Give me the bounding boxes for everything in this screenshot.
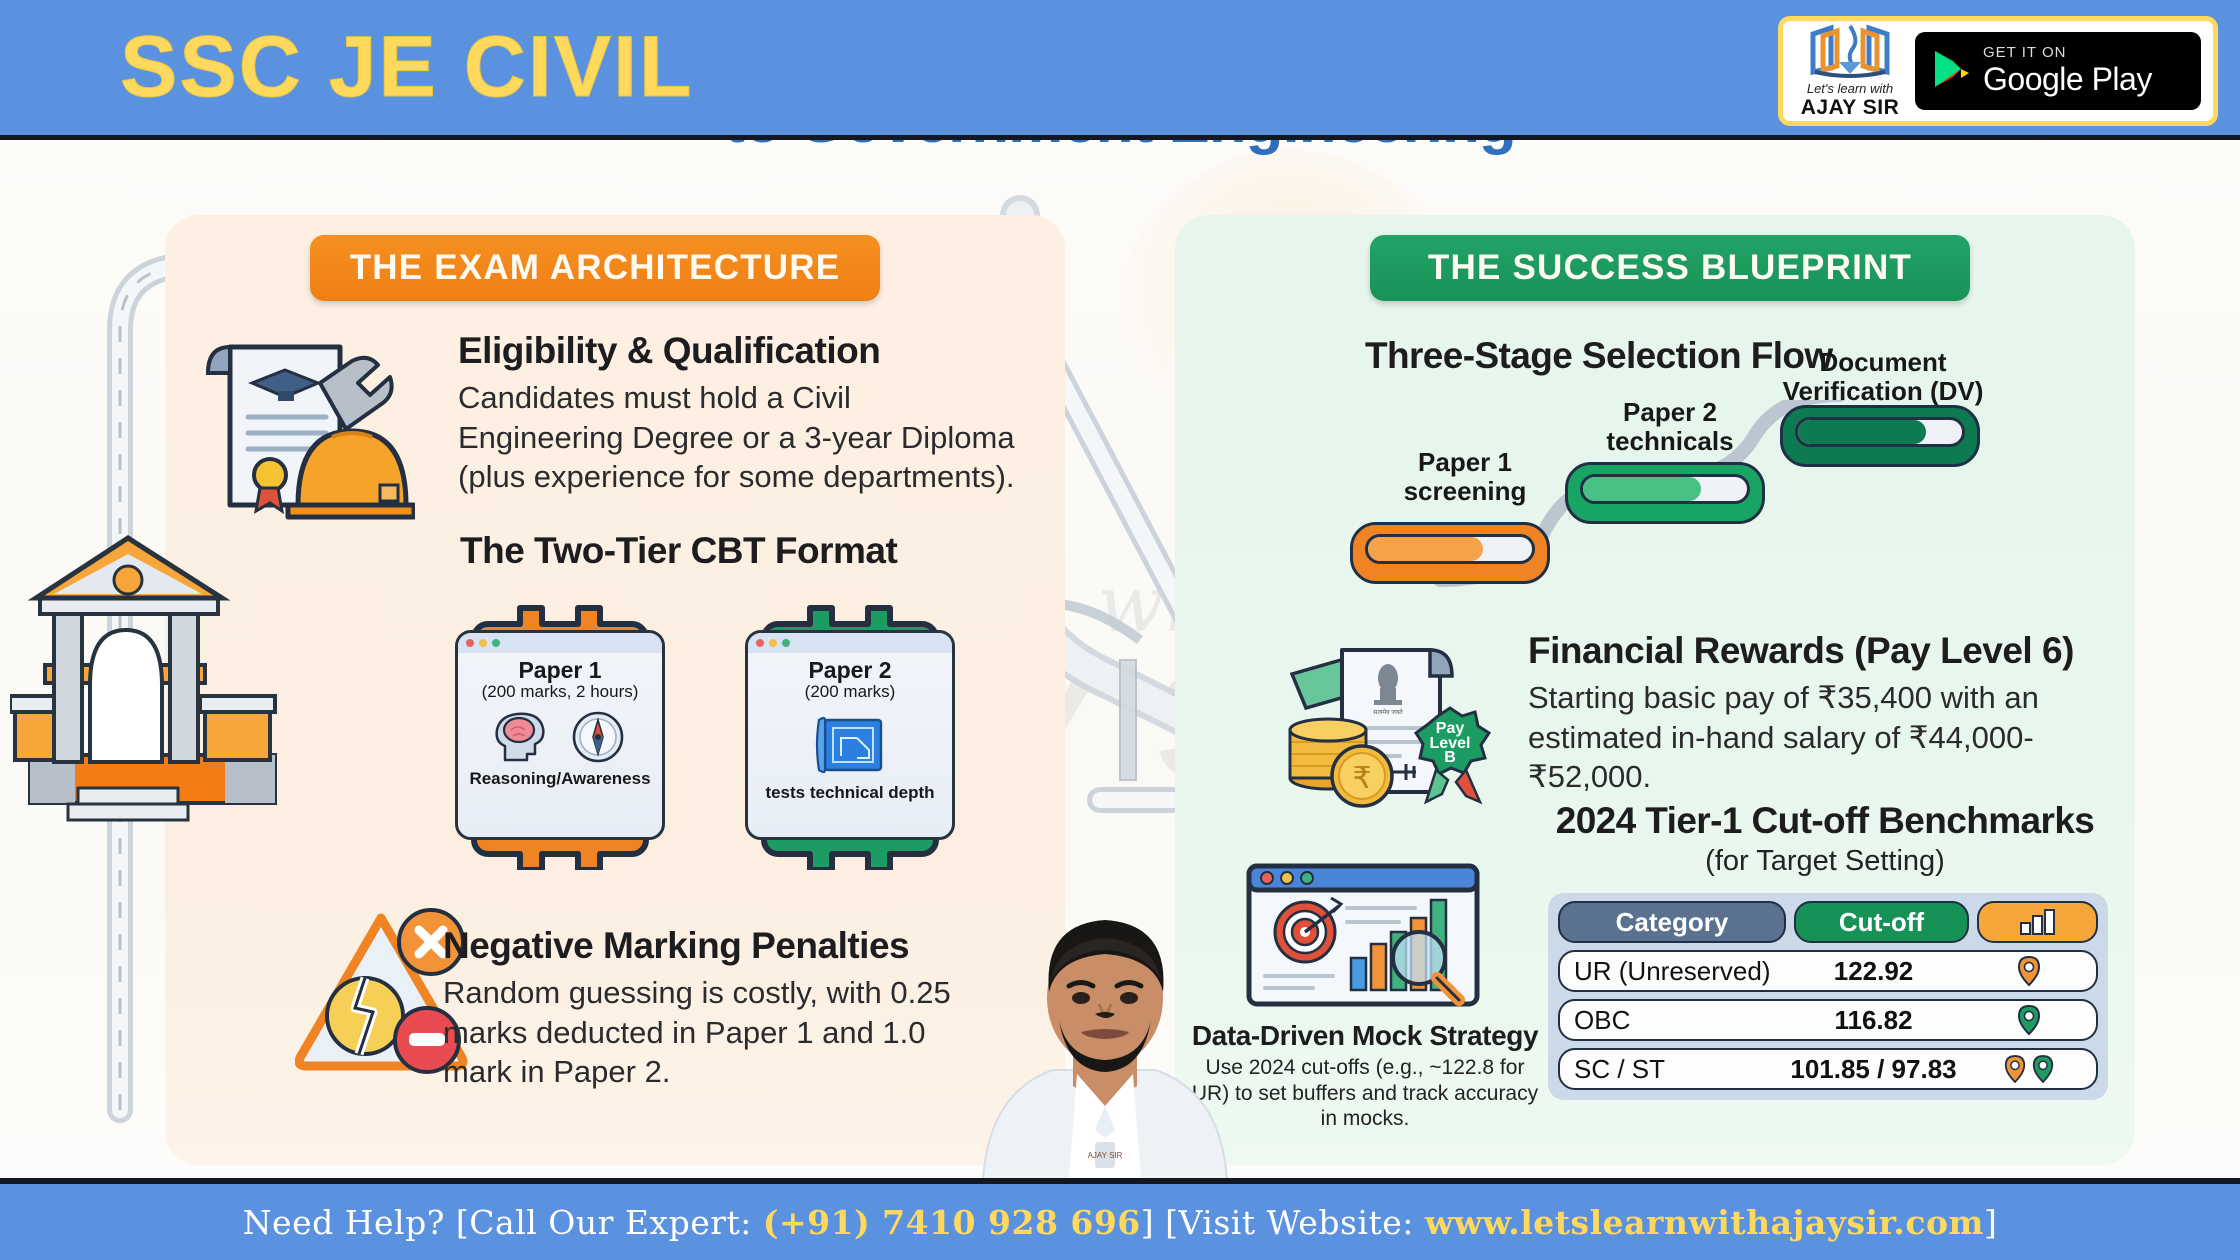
cutoff-subtitle: (for Target Setting) (1545, 845, 2105, 878)
paper1-caption: Reasoning/Awareness (464, 770, 656, 789)
paper2-detail: (200 marks) (754, 682, 946, 702)
cell-cutoff: 122.92 (1786, 956, 1961, 987)
window-dot-green (782, 639, 790, 647)
compass-icon (567, 708, 629, 766)
footer-call-label: [Call Our Expert: (456, 1203, 752, 1242)
google-play-badge[interactable]: Let's learn with AJAY SIR GET IT ON Goog… (1778, 16, 2218, 126)
stage-pill-dv (1780, 405, 1980, 467)
right-panel-header: THE SUCCESS BLUEPRINT (1370, 235, 1970, 301)
paper2-caption: tests technical depth (754, 784, 946, 803)
selection-flow-title: Three-Stage Selection Flow (1365, 335, 1833, 377)
financial-title: Financial Rewards (Pay Level 6) (1528, 630, 2108, 672)
footer-visit-close: ] (1984, 1203, 1997, 1242)
paper1-gear-card: Paper 1 (200 marks, 2 hours) (425, 600, 695, 875)
cell-category: OBC (1560, 1005, 1786, 1036)
stage-pill-paper2 (1565, 462, 1765, 524)
negative-marking-body: Random guessing is costly, with 0.25 mar… (443, 973, 1003, 1092)
cbt-format-title: The Two-Tier CBT Format (460, 530, 897, 572)
svg-text:सत्यमेव जयते: सत्यमेव जयते (1373, 708, 1403, 716)
paper1-window: Paper 1 (200 marks, 2 hours) (455, 630, 665, 840)
stage-progress-track (1365, 534, 1535, 564)
financial-body: Starting basic pay of ₹35,400 with an es… (1528, 678, 2108, 797)
window-dot-red (466, 639, 474, 647)
mock-dashboard-icon (1243, 860, 1483, 1010)
map-pin-icon (1961, 1004, 2096, 1036)
cell-category: UR (Unreserved) (1560, 956, 1786, 987)
svg-text:₹: ₹ (1352, 761, 1371, 796)
government-building-icon (10, 500, 290, 830)
page-title: SSC JE CIVIL (120, 18, 694, 117)
stage-label-paper1: Paper 1 screening (1370, 448, 1560, 505)
eligibility-section: Eligibility & Qualification Candidates m… (458, 330, 1018, 497)
footer-need-help: Need Help? (243, 1203, 445, 1242)
table-header-row: Category Cut-off (1558, 901, 2098, 943)
top-banner: SSC JE CIVIL Let's learn with AJAY SIR (0, 0, 2240, 140)
window-dot-yellow (769, 639, 777, 647)
brain-head-icon (491, 708, 553, 766)
certificate-helmet-icon (200, 325, 415, 525)
cell-cutoff: 101.85 / 97.83 (1786, 1054, 1961, 1085)
financial-rewards-icon: सत्यमेव जयते ₹ Pay Level B (1270, 630, 1500, 820)
stage-label-dv: Document Verification (DV) (1768, 348, 1998, 405)
google-play-button[interactable]: GET IT ON Google Play (1915, 32, 2201, 110)
table-row: SC / ST 101.85 / 97.83 (1558, 1048, 2098, 1090)
financial-rewards-section: Financial Rewards (Pay Level 6) Starting… (1528, 630, 2108, 797)
eligibility-body: Candidates must hold a Civil Engineering… (458, 378, 1018, 497)
bar-chart-icon (1977, 901, 2098, 943)
stage-progress-fill (1368, 537, 1483, 561)
footer-visit-label: [Visit Website: (1165, 1203, 1414, 1242)
table-row: OBC 116.82 (1558, 999, 2098, 1041)
google-play-triangle-icon (1931, 49, 1971, 93)
cell-category: SC / ST (1560, 1054, 1786, 1085)
blueprint-icon (811, 712, 889, 780)
cutoff-title: 2024 Tier-1 Cut-off Benchmarks (1545, 800, 2105, 842)
brand-logo: Let's learn with AJAY SIR (1795, 22, 1905, 120)
negative-marking-title: Negative Marking Penalties (443, 925, 1003, 967)
svg-text:B: B (1444, 749, 1456, 766)
negative-marking-section: Negative Marking Penalties Random guessi… (443, 925, 1003, 1092)
cutoff-table: Category Cut-off UR (Unreserved) 122.92 (1548, 893, 2108, 1100)
footer-call-close: ] (1141, 1203, 1154, 1242)
left-panel-header: THE EXAM ARCHITECTURE (310, 235, 880, 301)
window-dot-yellow (479, 639, 487, 647)
store-large-text: Google Play (1983, 61, 2152, 98)
paper1-name: Paper 1 (464, 657, 656, 684)
map-pin-icon-pair (1961, 1054, 2096, 1084)
table-row: UR (Unreserved) 122.92 (1558, 950, 2098, 992)
column-header-category: Category (1558, 901, 1786, 943)
svg-text:AJAY SIR: AJAY SIR (1088, 1151, 1123, 1160)
paper2-name: Paper 2 (754, 657, 946, 684)
stage-progress-track (1795, 417, 1965, 447)
infographic-canvas: Let's learn with AJAY SIR to Government … (0, 0, 2240, 1260)
stage-label-paper2: Paper 2 technicals (1570, 398, 1770, 455)
footer-website[interactable]: www.letslearnwithajaysir.com (1425, 1203, 1984, 1242)
window-dot-green (492, 639, 500, 647)
presenter-photo: AJAY SIR (955, 880, 1255, 1190)
footer-bar: Need Help? [Call Our Expert: (+91) 7410 … (0, 1178, 2240, 1260)
paper2-window: Paper 2 (200 marks) tests technical dept… (745, 630, 955, 840)
stage-progress-fill (1583, 477, 1701, 501)
paper1-detail: (200 marks, 2 hours) (464, 682, 656, 702)
logo-name: AJAY SIR (1801, 96, 1900, 120)
store-small-text: GET IT ON (1983, 44, 2152, 61)
open-book-logo-icon (1807, 22, 1893, 80)
footer-phone[interactable]: (+91) 7410 928 696 (763, 1203, 1141, 1242)
window-titlebar (458, 633, 662, 653)
window-titlebar (748, 633, 952, 653)
window-dot-red (756, 639, 764, 647)
paper2-gear-card: Paper 2 (200 marks) tests technical dept… (715, 600, 985, 875)
eligibility-title: Eligibility & Qualification (458, 330, 1018, 372)
cell-cutoff: 116.82 (1786, 1005, 1961, 1036)
map-pin-icon (1961, 955, 2096, 987)
logo-tagline: Let's learn with (1807, 81, 1893, 96)
stage-progress-fill (1798, 420, 1926, 444)
stage-progress-track (1580, 474, 1750, 504)
column-header-cutoff: Cut-off (1794, 901, 1969, 943)
stage-pill-paper1 (1350, 522, 1550, 584)
